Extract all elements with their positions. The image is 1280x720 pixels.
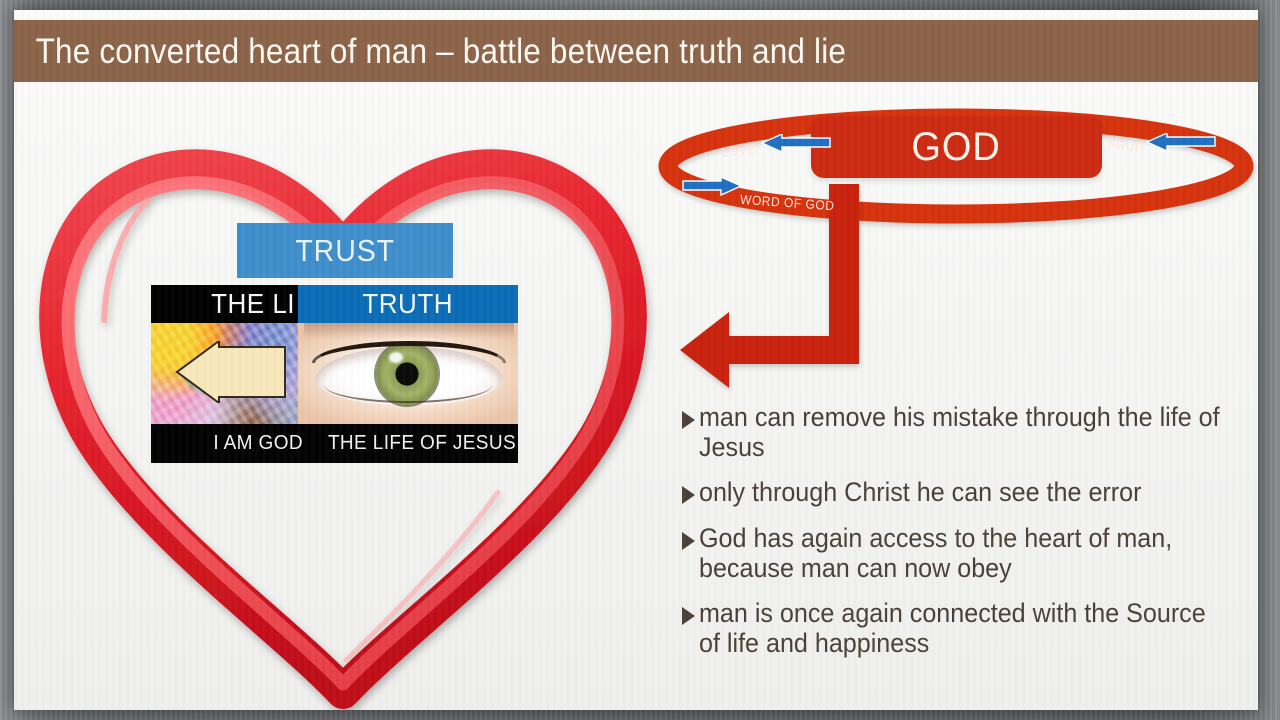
truth-label: TRUTH xyxy=(363,288,454,320)
lie-label: THE LI xyxy=(211,288,295,320)
bullet-text: God has again access to the heart of man… xyxy=(699,523,1223,583)
truth-header: TRUTH xyxy=(298,285,518,323)
elbow-arrow-left-icon xyxy=(680,184,859,388)
bullet-text: only through Christ he can see the error xyxy=(699,477,1223,507)
upper-eyelash xyxy=(312,341,506,363)
eyebrow-shading xyxy=(304,323,514,339)
word-of-god-arrow-icon xyxy=(681,177,743,197)
caption-i-am-god: I AM GOD xyxy=(213,432,303,455)
collage-caption-bar: I AM GOD THE LIFE OF JESUS xyxy=(151,424,518,463)
god-box: GOD xyxy=(811,116,1102,178)
bullet-text: man is once again connected with the Sou… xyxy=(699,598,1223,658)
green-eye-photo-image xyxy=(298,323,518,424)
bullet-triangle-icon xyxy=(682,486,695,504)
caption-life-of-jesus: THE LIFE OF JESUS xyxy=(328,432,516,455)
trust-label: TRUST xyxy=(295,233,395,269)
bullet-triangle-icon xyxy=(682,532,695,550)
lie-vs-truth-collage: THE LI TRUTH I AM GOD THE LIFE OF JESUS xyxy=(151,285,518,463)
slide-canvas: The converted heart of man – battle betw… xyxy=(14,10,1258,710)
list-item: only through Christ he can see the error xyxy=(682,477,1258,507)
slide-stage: The converted heart of man – battle betw… xyxy=(0,0,1280,720)
god-label: GOD xyxy=(912,125,1001,170)
slide-title-bar: The converted heart of man – battle betw… xyxy=(14,20,1258,82)
lie-header: THE LI xyxy=(151,285,298,323)
list-item: God has again access to the heart of man… xyxy=(682,523,1258,583)
bullet-text: man can remove his mistake through the l… xyxy=(699,402,1223,462)
fruit-arrow-icon xyxy=(1145,133,1217,153)
bullet-triangle-icon xyxy=(682,607,695,625)
trust-banner: TRUST xyxy=(237,223,453,278)
love-arrow-icon xyxy=(760,134,832,154)
slide-title: The converted heart of man – battle betw… xyxy=(14,34,846,69)
list-item: man can remove his mistake through the l… xyxy=(682,402,1258,462)
left-arrow-icon xyxy=(173,341,291,403)
bullet-triangle-icon xyxy=(682,411,695,429)
list-item: man is once again connected with the Sou… xyxy=(682,598,1258,658)
bullet-list: man can remove his mistake through the l… xyxy=(682,402,1258,674)
